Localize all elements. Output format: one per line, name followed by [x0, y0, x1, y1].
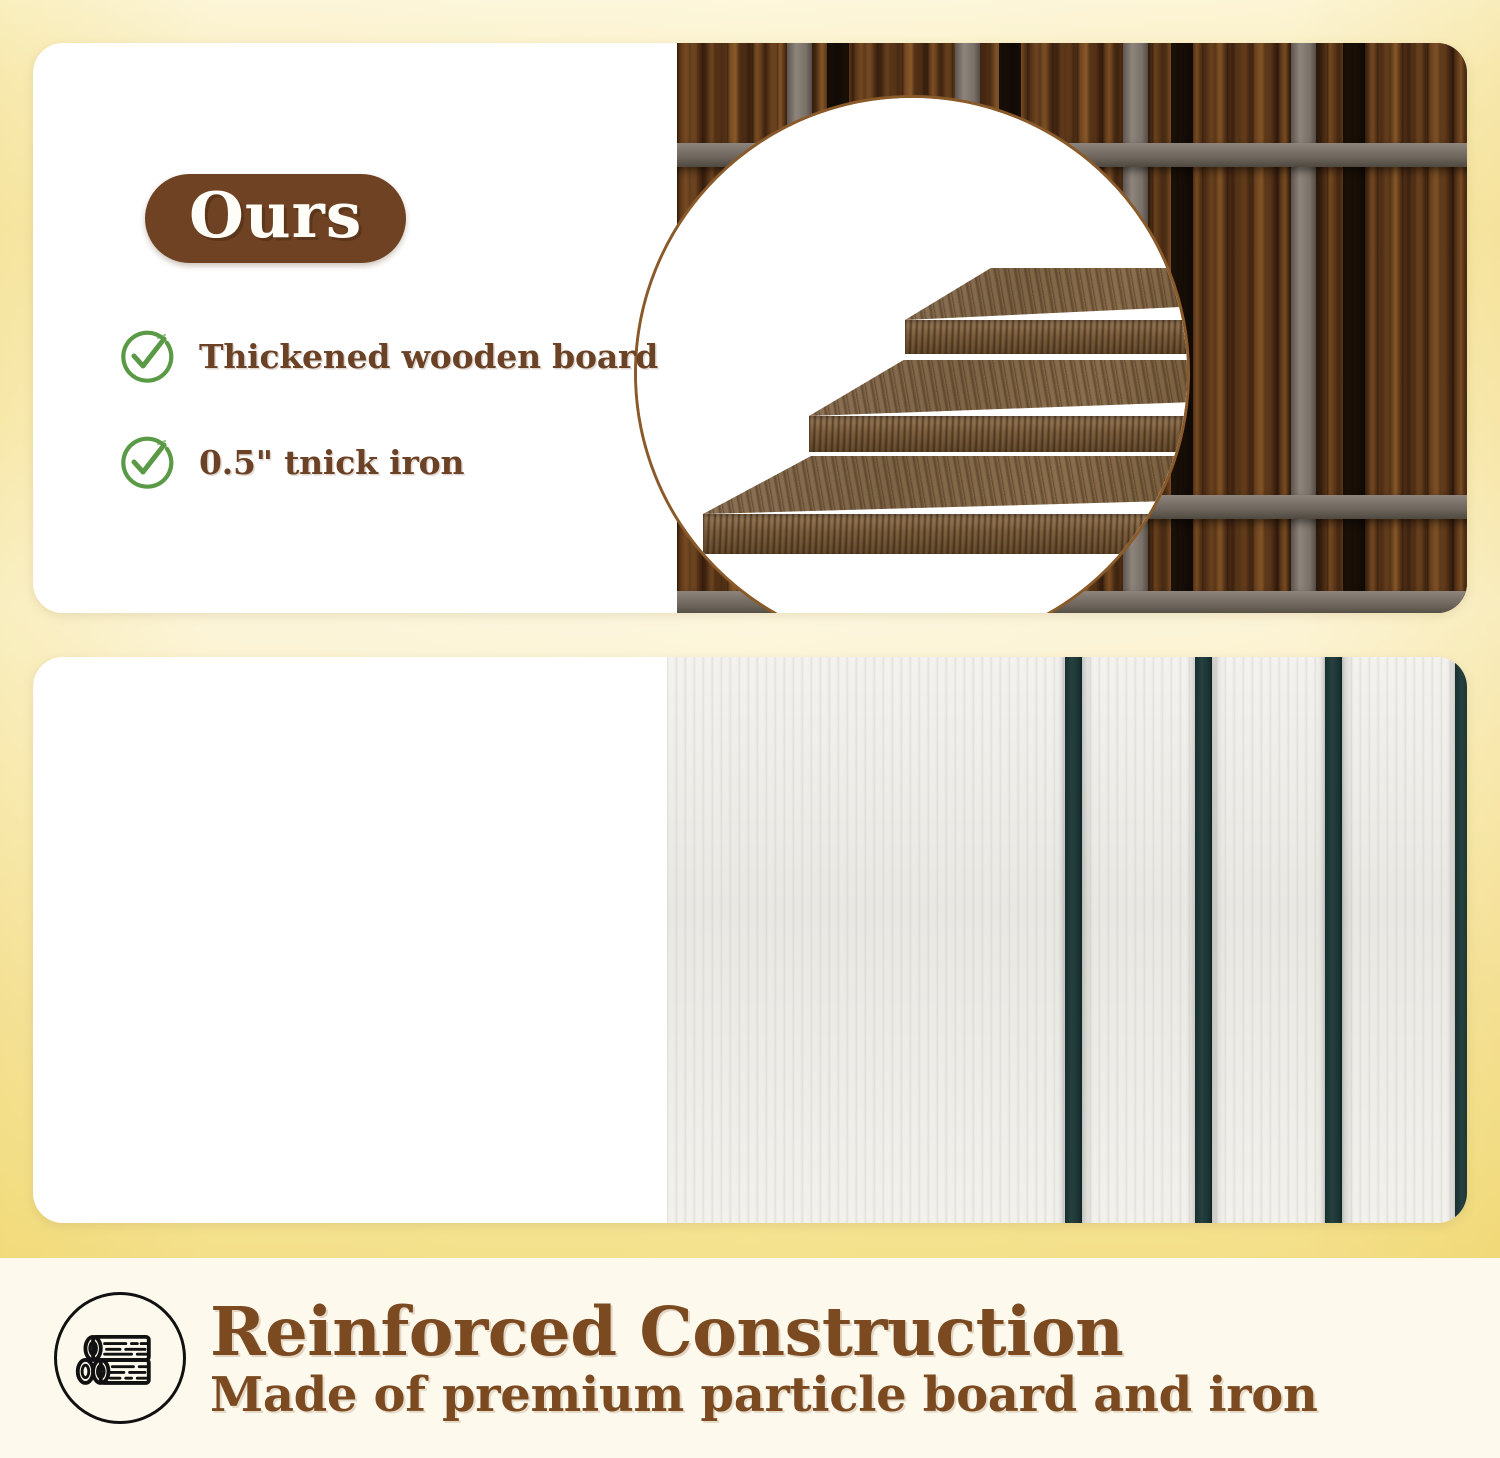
list-item-label: Thickened wooden board — [199, 337, 658, 376]
list-item-label: 0.5" tnick iron — [199, 443, 464, 482]
ours-comparison-card: Ours Thickened wooden board — [33, 43, 1467, 613]
reinforced-construction-banner: Reinforced Construction Made of premium … — [0, 1258, 1500, 1458]
ours-badge: Ours — [145, 174, 406, 263]
ours-text-column: Ours Thickened wooden board — [33, 43, 633, 613]
ours-feature-list: Thickened wooden board 0.5" tnick iron — [117, 326, 658, 492]
check-circle-icon — [117, 326, 177, 386]
list-item: Thickened wooden board — [117, 326, 658, 386]
banner-title: Reinforced Construction — [210, 1298, 1318, 1365]
banner-subtitle: Made of premium particle board and iron — [210, 1371, 1318, 1419]
others-product-photo — [667, 657, 1467, 1223]
others-comparison-card: Others Inferior thin wooden board — [33, 657, 1467, 1223]
stacked-logs-icon — [54, 1292, 186, 1424]
ours-badge-label: Ours — [189, 183, 362, 247]
ours-magnified-board-detail — [634, 95, 1190, 613]
list-item: 0.5" tnick iron — [117, 432, 658, 492]
infographic-page: Ours Thickened wooden board — [0, 0, 1500, 1458]
others-text-column: Others Inferior thin wooden board — [33, 657, 633, 1223]
check-circle-icon — [117, 432, 177, 492]
